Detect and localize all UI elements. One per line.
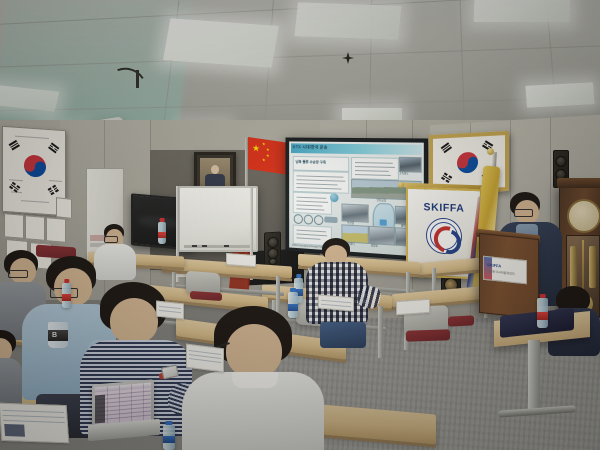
- skiffa-name: SKIFFA: [408, 201, 480, 216]
- slide-caption-2: 인천공항: [377, 198, 387, 202]
- ceiling-light: [294, 2, 401, 40]
- chair-seat[interactable]: [448, 315, 474, 326]
- slide-body-right: [351, 157, 399, 180]
- slide-photo-3: [341, 203, 368, 222]
- photo-scene: ★ ★ ★ ★ ★ KTX 시대/한국 운송 남북 물류: [0, 0, 600, 450]
- ceiling-light: [525, 82, 594, 108]
- water-bottle[interactable]: [62, 283, 71, 308]
- water-bottle[interactable]: [288, 292, 298, 318]
- slide-title: KTX 시대/한국 운송: [293, 144, 328, 150]
- whiteboard: [178, 186, 258, 252]
- china-flag: ★ ★ ★ ★ ★: [248, 137, 290, 175]
- wall-document: [56, 197, 72, 219]
- wall-document: [4, 213, 24, 239]
- collar: [232, 372, 278, 388]
- chair-seat[interactable]: [406, 329, 450, 342]
- desk-leg: [378, 306, 383, 358]
- speaker-left: [264, 232, 281, 267]
- glasses: [514, 209, 533, 217]
- paper-sheet[interactable]: [156, 301, 184, 320]
- side-table-leg: [528, 340, 540, 412]
- wall-document: [46, 217, 66, 243]
- banner-finial-left: [398, 182, 404, 188]
- flag-finial: [487, 148, 494, 155]
- water-bottle[interactable]: [158, 222, 166, 244]
- skiffa-logo: [426, 217, 462, 254]
- paper-handout[interactable]: [0, 403, 69, 444]
- paper-sheet[interactable]: [396, 299, 430, 315]
- ceiling-light: [163, 18, 279, 68]
- presentation-slide: KTX 시대/한국 운송 남북 물류 수송망 구축: [289, 141, 424, 256]
- trousers: [320, 322, 366, 348]
- ceiling-light: [474, 0, 571, 22]
- slide-caption-6: 광양항: [371, 243, 378, 248]
- slide-subtitle: 남북 물류 수송망 구축: [296, 160, 326, 166]
- slide-map-marker: [380, 219, 387, 225]
- laptop[interactable]: [88, 382, 160, 440]
- slide-body-left: [293, 170, 349, 193]
- slide-body-left-2: [293, 192, 332, 215]
- cup-logo: B: [52, 332, 57, 339]
- notebook[interactable]: [186, 344, 224, 373]
- paper-sheet[interactable]: [226, 253, 256, 267]
- slide-caption-1: 고속철도: [399, 171, 409, 175]
- slide-subtitle-box: 남북 물류 수송망 구축: [293, 156, 349, 172]
- projector-mount: [136, 70, 139, 88]
- slide-icon-row: [294, 213, 341, 225]
- laptop-screen: [95, 383, 151, 426]
- wall-document: [25, 215, 45, 241]
- water-bottle[interactable]: [163, 425, 175, 450]
- slide-badge-icon: [330, 193, 339, 202]
